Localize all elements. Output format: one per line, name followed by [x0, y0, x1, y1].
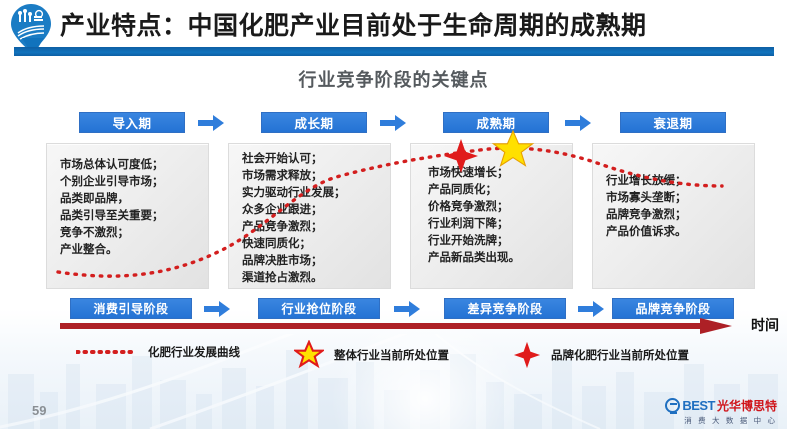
legend-label-brand: 品牌化肥行业当前所处位置 [551, 347, 689, 363]
stage-panel-1-text: 市场总体认可度低； 个别企业引导市场； 品类即品牌， 品类引导至关重要； 竞争不… [60, 156, 210, 258]
legend-item-overall: 整体行业当前所处位置 [294, 340, 449, 370]
brand-logo-row: BEST 光华博思特 [665, 397, 777, 414]
stage-chip-top-2[interactable]: 成长期 [261, 112, 367, 133]
stage-chip-bottom-1[interactable]: 消费引导阶段 [70, 298, 192, 319]
brand-mark-icon [665, 398, 680, 413]
legend-label-overall: 整体行业当前所处位置 [334, 347, 449, 363]
legend-item-brand: 品牌化肥行业当前所处位置 [513, 341, 689, 369]
time-axis-label: 时间 [751, 315, 779, 335]
arrow-right-icon-top-2 [380, 115, 406, 131]
stage-chip-bottom-4[interactable]: 品牌竞争阶段 [612, 298, 734, 319]
legend-item-curve: 化肥行业发展曲线 [76, 344, 240, 360]
arrow-right-icon-bottom-3 [578, 301, 604, 317]
arrow-right-icon-top-1 [198, 115, 224, 131]
legend-label-curve: 化肥行业发展曲线 [148, 344, 240, 360]
stage-chip-bottom-2[interactable]: 行业抢位阶段 [258, 298, 380, 319]
page-number: 59 [32, 403, 46, 418]
stage-panel-4-text: 行业增长放缓； 市场寡头垄断； 品牌竞争激烈； 产品价值诉求。 [606, 172, 756, 240]
stage-chip-bottom-3[interactable]: 差异竞争阶段 [444, 298, 566, 319]
red-star-icon [513, 341, 541, 369]
yellow-star-icon [294, 340, 324, 370]
stage-panel-2-text: 社会开始认可； 市场需求释放； 实力驱动行业发展； 众多企业跟进； 产品竞争激烈… [242, 150, 392, 286]
arrow-right-icon-bottom-1 [204, 301, 230, 317]
brand-logo: BEST 光华博思特 消 费 大 数 据 中 心 [665, 397, 777, 426]
stage-chip-top-1[interactable]: 导入期 [79, 112, 185, 133]
page-title: 产业特点：中国化肥产业目前处于生命周期的成熟期 [60, 6, 647, 42]
chart-subtitle: 行业竞争阶段的关键点 [0, 66, 787, 92]
slide-header: 产业特点：中国化肥产业目前处于生命周期的成熟期 [0, 0, 787, 48]
time-axis-arrow [60, 317, 732, 335]
header-rule [14, 47, 774, 56]
stage-chip-top-4[interactable]: 衰退期 [620, 112, 726, 133]
stage-panel-3-text: 市场快速增长； 产品同质化； 价格竞争激烈； 行业利润下降； 行业开始洗牌； 产… [428, 164, 578, 266]
dotted-line-icon [76, 347, 136, 357]
slide-canvas: 产业特点：中国化肥产业目前处于生命周期的成熟期 行业竞争阶段的关键点 导入期 成… [0, 0, 787, 429]
brand-name-cn: 光华博思特 [717, 397, 777, 414]
stage-chip-top-3[interactable]: 成熟期 [443, 112, 549, 133]
arrow-right-icon-top-3 [565, 115, 591, 131]
brand-name: BEST [682, 398, 715, 413]
arrow-right-icon-bottom-2 [394, 301, 420, 317]
brand-subtitle: 消 费 大 数 据 中 心 [665, 415, 777, 426]
